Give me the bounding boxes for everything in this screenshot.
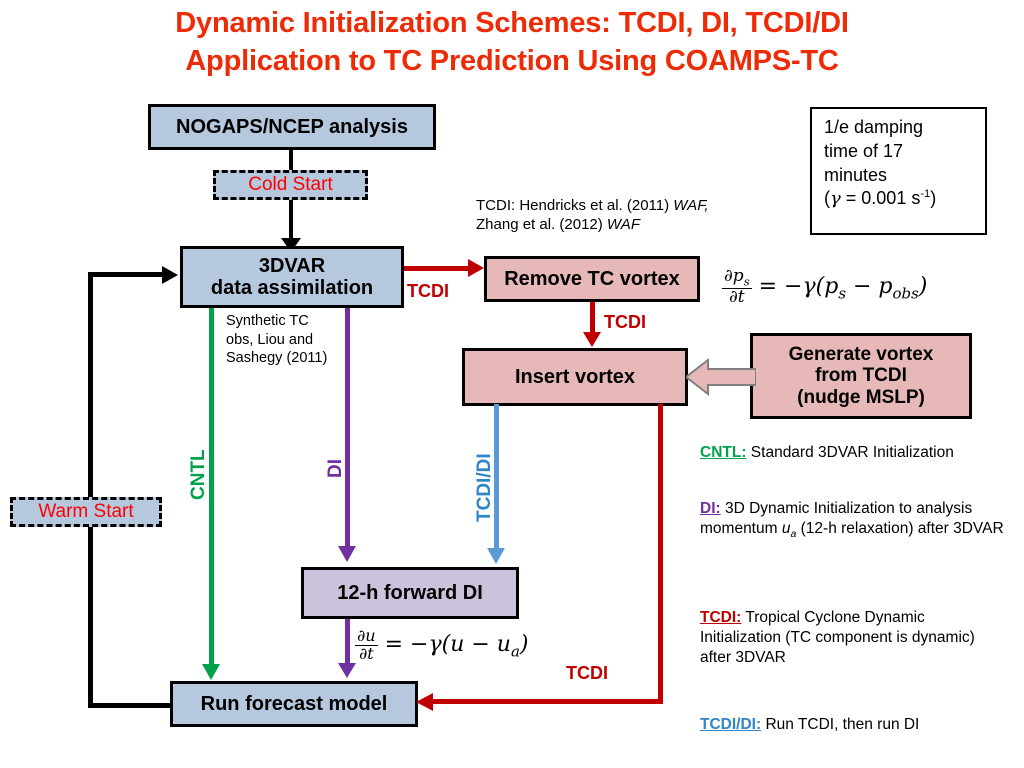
arrow-tcdi-di-head: [487, 548, 505, 564]
damping-line-1: 1/e damping: [824, 116, 975, 140]
legend-di-text-b: (12-h relaxation) after 3DVAR: [796, 520, 1003, 537]
box-insert-vortex-label: Insert vortex: [515, 366, 635, 388]
box-insert-vortex[interactable]: Insert vortex: [462, 348, 688, 406]
title-line-2: Application to TC Prediction Using COAMP…: [0, 42, 1024, 80]
warm-start-label: Warm Start: [38, 501, 133, 523]
legend-tcdi-key: TCDI:: [700, 609, 741, 626]
arrow-3dvar-to-remove-head: [468, 259, 484, 277]
path-label-cntl: CNTL: [188, 449, 210, 500]
title-line-1: Dynamic Initialization Schemes: TCDI, DI…: [0, 4, 1024, 42]
path-label-tcdi-1: TCDI: [407, 281, 449, 302]
tcdi-citation-line-2: Zhang et al. (2012) WAF: [476, 215, 766, 234]
box-12h-forward-di[interactable]: 12-h forward DI: [301, 567, 519, 619]
damping-line-2: time of 17: [824, 140, 975, 164]
legend-di-key: DI:: [700, 500, 721, 517]
path-label-tcdi-2: TCDI: [604, 312, 646, 333]
equation-ps-rhs: = −γ(ps − pobs): [759, 274, 928, 299]
damping-line-3: minutes: [824, 164, 975, 188]
path-label-di: DI: [325, 459, 347, 478]
arrow-di-line: [345, 308, 350, 550]
equation-momentum: ∂u ∂t = −γ(u − ua): [355, 628, 528, 663]
box-remove-vortex-label: Remove TC vortex: [504, 268, 680, 290]
equation-surface-pressure: ∂ps ∂t = −γ(ps − pobs): [722, 268, 927, 306]
legend-di: DI: 3D Dynamic Initialization to analysi…: [700, 499, 1010, 542]
tcdi-citation-line-1: TCDI: Hendricks et al. (2011) WAF,: [476, 196, 766, 215]
cold-start-badge: Cold Start: [213, 170, 368, 200]
box-generate-label-2: from TCDI: [815, 365, 907, 386]
equation-u-fraction: ∂u ∂t: [355, 628, 378, 663]
legend-tcdi-di: TCDI/DI: Run TCDI, then run DI: [700, 715, 1020, 735]
feedback-vertical-line: [88, 272, 93, 708]
box-remove-tc-vortex[interactable]: Remove TC vortex: [484, 256, 700, 302]
feedback-bottom-line: [88, 703, 172, 708]
arrow-di-head: [338, 546, 356, 562]
box-3dvar-data-assimilation[interactable]: 3DVAR data assimilation: [180, 246, 404, 308]
arrow-tcdi-bottom-line: [432, 699, 663, 704]
arrow-cntl-head: [202, 664, 220, 680]
gamma-exponent: -1: [920, 188, 930, 200]
box-3dvar-label-2: data assimilation: [211, 277, 373, 299]
arrow-3dvar-to-remove-line: [404, 266, 472, 271]
box-generate-label-1: Generate vortex: [789, 344, 934, 365]
page-title: Dynamic Initialization Schemes: TCDI, DI…: [0, 4, 1024, 80]
tcdi-citation-b: Zhang et al. (2012): [476, 216, 607, 233]
damping-callout-box: 1/e damping time of 17 minutes (γ = 0.00…: [810, 107, 987, 235]
tcdi-citation-a: TCDI: Hendricks et al. (2011): [476, 197, 673, 214]
warm-start-badge: Warm Start: [10, 497, 162, 527]
gamma-value: = 0.001 s: [841, 188, 921, 208]
damping-gamma-line: (γ = 0.001 s-1): [824, 187, 975, 211]
box-run-forecast-model[interactable]: Run forecast model: [170, 681, 418, 727]
box-run-forecast-label: Run forecast model: [201, 693, 388, 715]
box-generate-vortex-from-tcdi[interactable]: Generate vortex from TCDI (nudge MSLP): [750, 333, 972, 419]
box-nogaps-label: NOGAPS/NCEP analysis: [176, 116, 408, 138]
box-3dvar-label-1: 3DVAR: [259, 255, 325, 277]
equation-u-rhs: = −γ(u − ua): [385, 632, 529, 657]
path-label-tcdi-3: TCDI: [566, 663, 608, 684]
legend-tcdi-text: Tropical Cyclone Dynamic Initialization …: [700, 609, 975, 666]
box-generate-label-3: (nudge MSLP): [797, 387, 925, 408]
legend-cntl: CNTL: Standard 3DVAR Initialization: [700, 443, 1022, 463]
legend-cntl-text: Standard 3DVAR Initialization: [747, 444, 954, 461]
box-nogaps-ncep-analysis[interactable]: NOGAPS/NCEP analysis: [148, 104, 436, 150]
block-arrow-generate-to-insert: [686, 355, 756, 399]
equation-ps-fraction: ∂ps ∂t: [722, 268, 752, 306]
tcdi-citation: TCDI: Hendricks et al. (2011) WAF, Zhang…: [476, 196, 766, 234]
arrow-di-to-forecast-head: [338, 663, 356, 678]
equation-ps-numerator: ∂ps: [722, 268, 752, 289]
legend-tcdi: TCDI: Tropical Cyclone Dynamic Initializ…: [700, 608, 1010, 668]
arrow-tcdi-right-down-line: [658, 404, 663, 700]
tcdi-citation-b-journal: WAF: [607, 216, 640, 233]
cold-start-label: Cold Start: [248, 174, 332, 196]
legend-tcdi-di-text: Run TCDI, then run DI: [761, 716, 919, 733]
legend-cntl-key: CNTL:: [700, 444, 747, 461]
box-forward-di-label: 12-h forward DI: [337, 582, 483, 604]
path-label-tcdi-di: TCDI/DI: [474, 453, 496, 522]
equation-ps-denominator: ∂t: [722, 289, 752, 307]
equation-u-denominator: ∂t: [355, 646, 378, 663]
legend-tcdi-di-key: TCDI/DI:: [700, 716, 761, 733]
feedback-top-line: [88, 272, 166, 277]
arrow-remove-to-insert-line: [590, 302, 595, 336]
diagram-canvas: Dynamic Initialization Schemes: TCDI, DI…: [0, 0, 1024, 768]
gamma-paren-close: ): [930, 188, 936, 208]
arrow-di-to-forecast-line: [345, 619, 350, 667]
arrow-remove-to-insert-head: [583, 332, 601, 347]
gamma-symbol: γ: [830, 188, 841, 209]
arrow-tcdi-to-forecast-head: [416, 693, 433, 711]
feedback-arrow-head: [162, 266, 178, 284]
tcdi-citation-a-journal: WAF,: [673, 197, 708, 214]
